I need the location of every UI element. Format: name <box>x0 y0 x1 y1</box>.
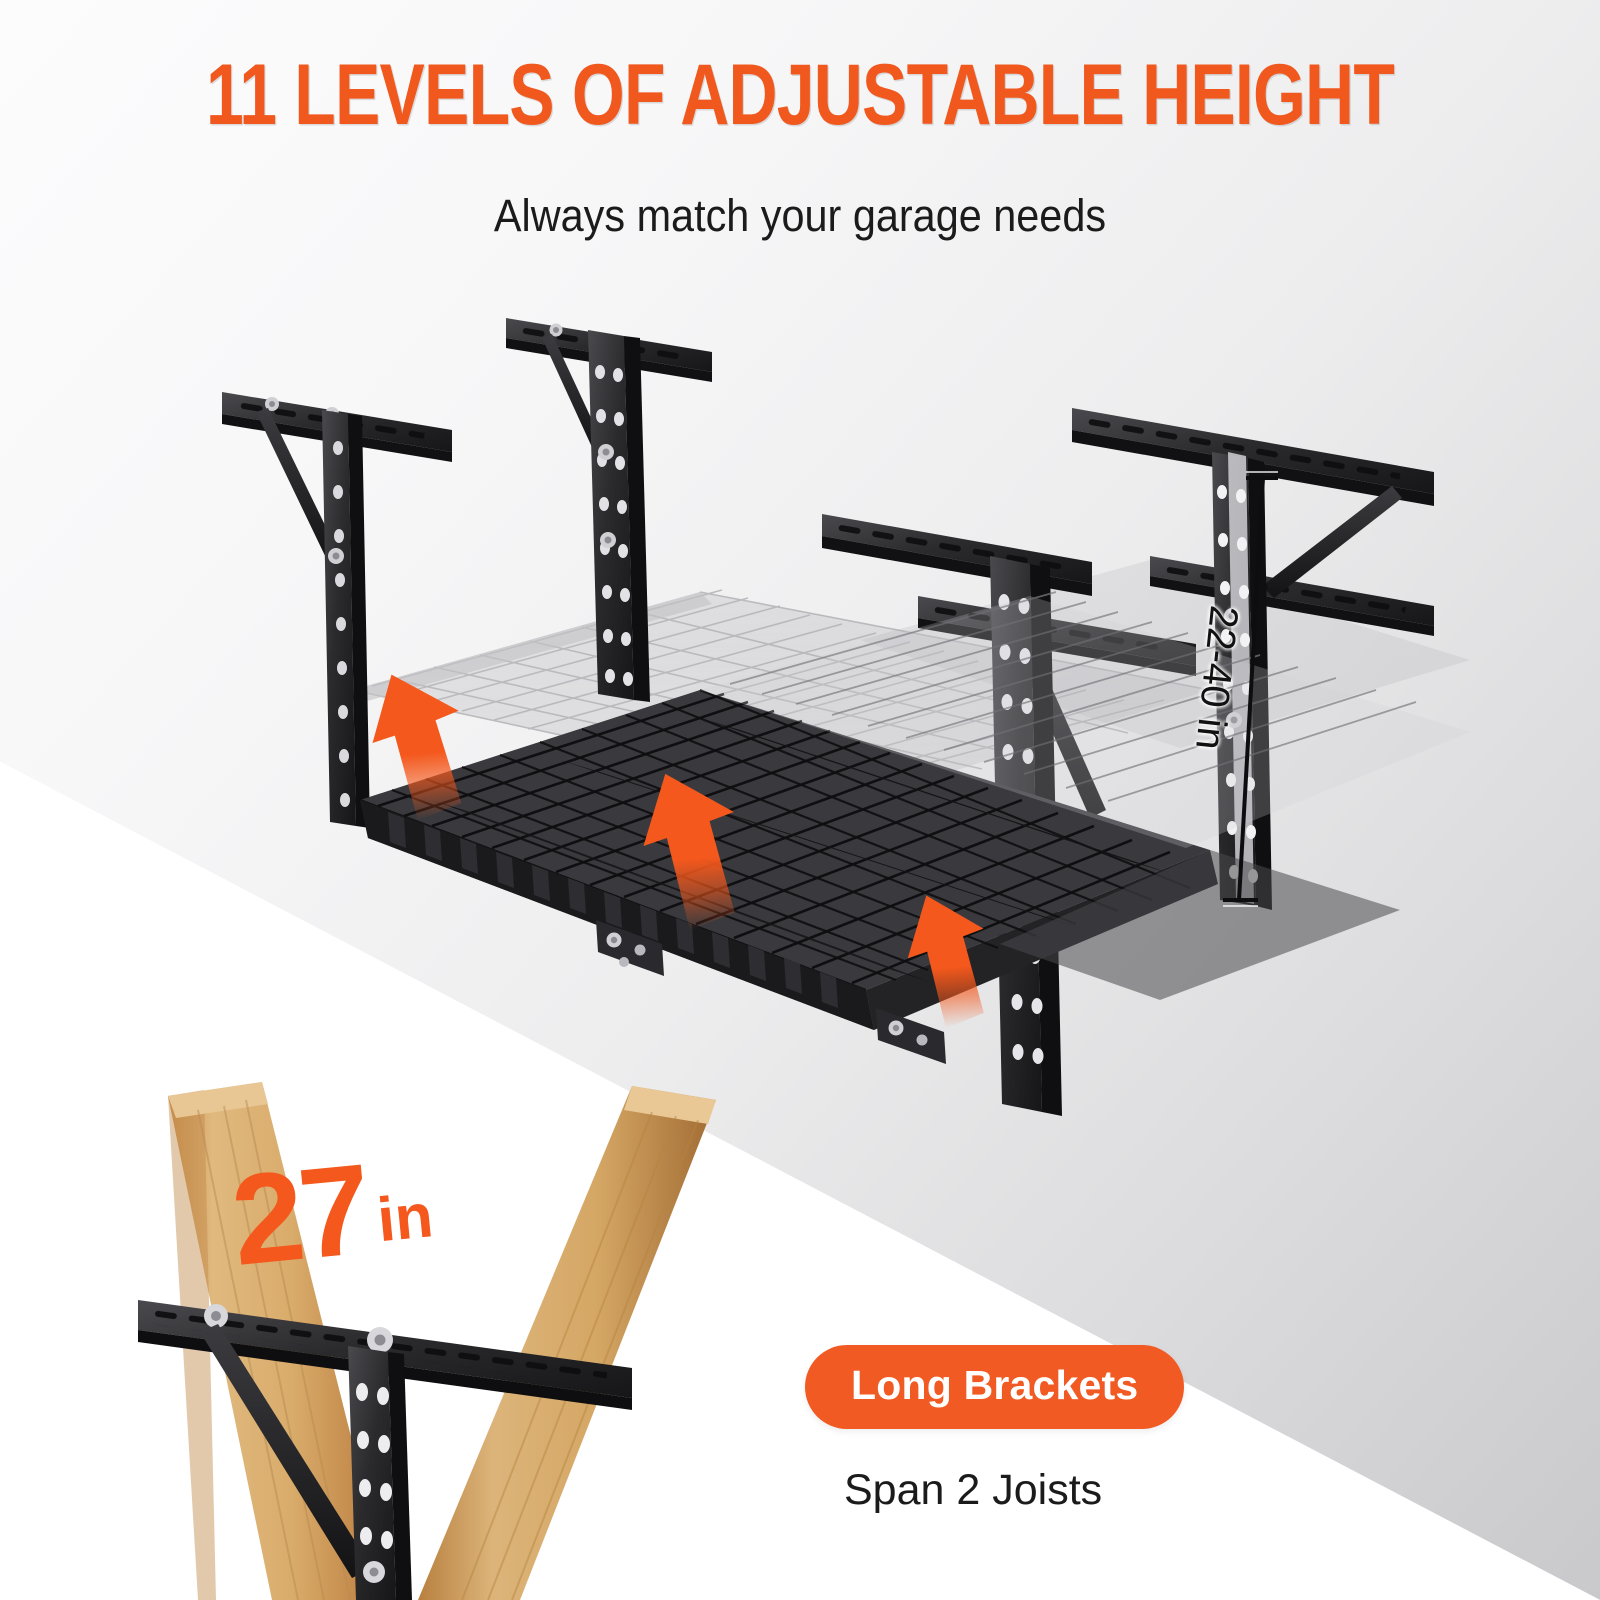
badge-caption: Span 2 Joists <box>844 1466 1102 1515</box>
product-illustration <box>0 0 1600 1600</box>
bracket-length-number: 27 <box>228 1156 372 1276</box>
product-infographic: 11 LEVELS OF ADJUSTABLE HEIGHT Always ma… <box>0 0 1600 1600</box>
long-brackets-badge: Long Brackets <box>805 1345 1184 1429</box>
bracket-length-callout: 27 in <box>228 1149 437 1275</box>
bracket-length-unit: in <box>375 1185 437 1262</box>
